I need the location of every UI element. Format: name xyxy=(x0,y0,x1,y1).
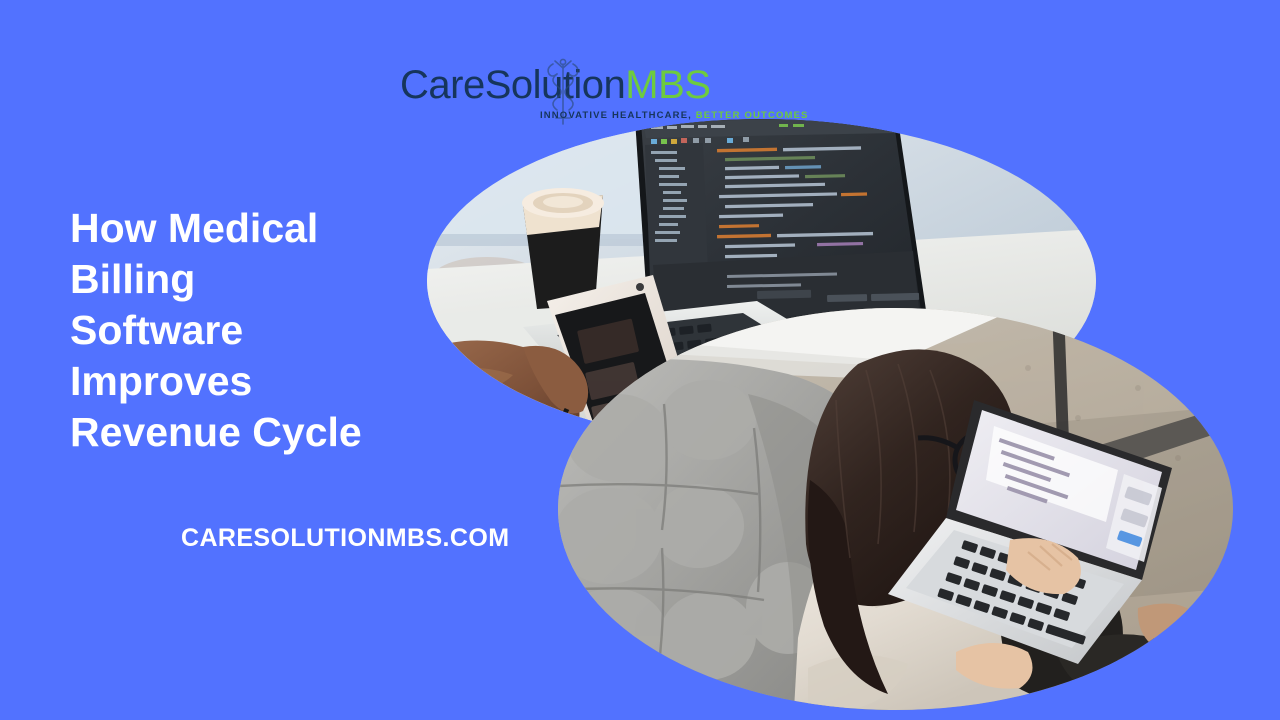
headline-line-1: How Medical xyxy=(70,203,430,254)
logo-text-mbs: MBS xyxy=(625,63,710,107)
tagline-part-2: BETTER OUTCOMES xyxy=(696,110,809,121)
poster-canvas: CareSolutionMBS INNOVATIVE HEALTHCARE, B… xyxy=(0,0,1280,720)
headline-line-4: Improves xyxy=(70,356,430,407)
logo-wordmark: CareSolutionMBS xyxy=(400,62,780,108)
logo-text-caresolution: CareSolution xyxy=(400,63,625,107)
headline-line-5: Revenue Cycle xyxy=(70,407,430,458)
headline-line-2: Billing xyxy=(70,254,430,305)
logo-tagline: INNOVATIVE HEALTHCARE, BETTER OUTCOMES xyxy=(540,110,809,121)
website-url[interactable]: CARESOLUTIONMBS.COM xyxy=(181,524,509,553)
headline-line-3: Software xyxy=(70,305,430,356)
brand-logo[interactable]: CareSolutionMBS INNOVATIVE HEALTHCARE, B… xyxy=(400,62,780,132)
tagline-part-1: INNOVATIVE HEALTHCARE, xyxy=(540,110,692,121)
woman-laptop-photo xyxy=(558,308,1233,710)
page-title: How Medical Billing Software Improves Re… xyxy=(70,203,430,458)
